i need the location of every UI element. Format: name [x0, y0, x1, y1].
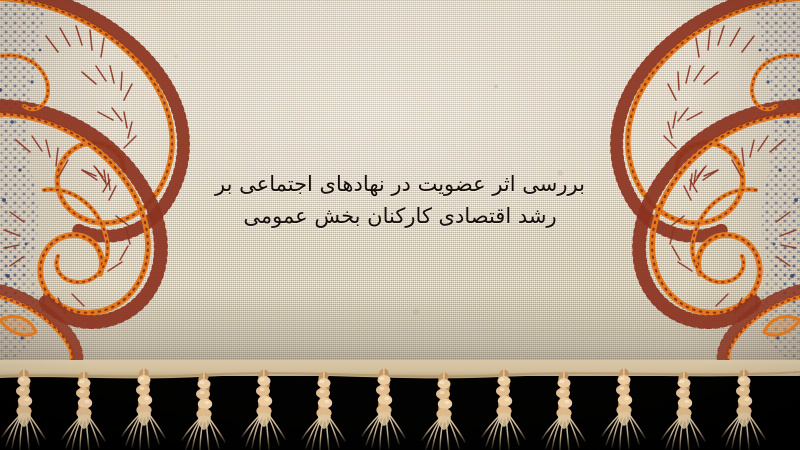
slide-canvas: بررسی اثر عضویت در نهادهای اجتماعی بر رش…: [0, 0, 800, 450]
title-line-2: رشد اقتصادی کارکنان بخش عمومی: [0, 200, 800, 232]
fringe-row: [0, 360, 800, 450]
slide-title: بررسی اثر عضویت در نهادهای اجتماعی بر رش…: [0, 168, 800, 232]
title-line-1: بررسی اثر عضویت در نهادهای اجتماعی بر: [0, 168, 800, 200]
fringe-tassels: [2, 373, 765, 450]
